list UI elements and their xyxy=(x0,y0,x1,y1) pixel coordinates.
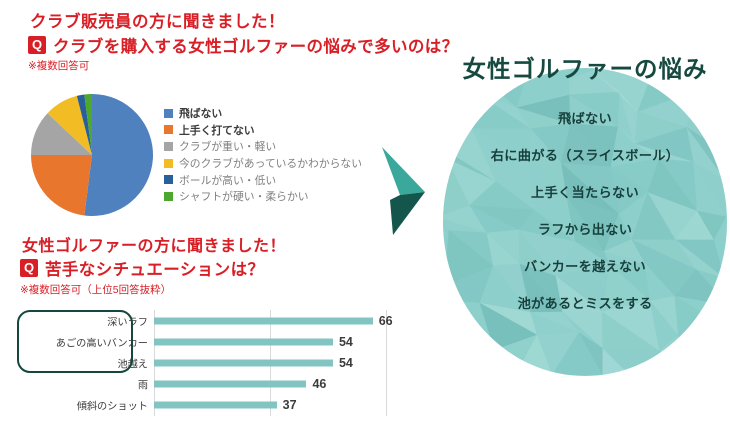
legend-swatch-icon xyxy=(164,125,173,134)
pie-chart-legend: 飛ばない上手く打てないクラブが重い・軽い今のクラブがあっているかわからないボール… xyxy=(164,105,344,205)
page-title: 女性ゴルファーの悩み xyxy=(443,50,727,84)
bar-fill xyxy=(154,339,333,346)
legend-item: ボールが高い・低い xyxy=(164,171,344,188)
bar-row: 雨46 xyxy=(18,373,418,395)
trouble-item: 右に曲がる（スライスボール） xyxy=(443,137,727,174)
legend-item: 上手く打てない xyxy=(164,122,344,139)
bar-category-label: 傾斜のショット xyxy=(18,398,148,413)
pie-slice xyxy=(84,94,153,216)
bar-fill xyxy=(154,402,277,409)
question2-headline: Q 苦手なシチュエーションは？ xyxy=(20,256,264,280)
bar-value-label: 46 xyxy=(312,377,326,391)
legend-item: シャフトが硬い・柔らかい xyxy=(164,188,344,205)
bar-chart-highlight-box xyxy=(17,310,133,373)
pie-chart xyxy=(30,93,154,217)
oval-facet xyxy=(678,335,727,376)
bar-fill xyxy=(154,318,373,325)
oval-facet xyxy=(678,335,727,376)
bar-fill xyxy=(154,360,333,367)
q-badge-icon: Q xyxy=(28,36,46,54)
bar-value-label: 54 xyxy=(339,356,353,370)
trouble-item: バンカーを越えない xyxy=(443,248,727,285)
question2-text: 苦手なシチュエーションは？ xyxy=(45,256,264,280)
bar-category-label: 雨 xyxy=(18,377,148,392)
oval-facet xyxy=(445,335,488,376)
legend-label: 今のクラブがあっているかわからない xyxy=(179,155,362,171)
question2-kicker: 女性ゴルファーの方に聞きました！ xyxy=(22,232,286,256)
arrow-upper-blade xyxy=(382,147,425,195)
legend-label: 上手く打てない xyxy=(179,122,255,138)
legend-label: シャフトが硬い・柔らかい xyxy=(179,188,309,204)
question1-note: ※複数回答可 xyxy=(28,58,89,73)
arrow-lower-blade xyxy=(390,192,425,235)
question2-note: ※複数回答可（上位5回答抜粋） xyxy=(20,282,171,297)
trouble-item: ラフから出ない xyxy=(443,211,727,248)
trouble-item: 飛ばない xyxy=(443,100,727,137)
pie-slice xyxy=(31,155,92,216)
question1-kicker: クラブ販売員の方に聞きました！ xyxy=(30,8,285,32)
legend-swatch-icon xyxy=(164,175,173,184)
infographic-canvas: クラブ販売員の方に聞きました！ Q クラブを購入する女性ゴルファーの悩みで多いの… xyxy=(0,0,730,431)
troubles-list: 飛ばない右に曲がる（スライスボール）上手く当たらないラフから出ないバンカーを越え… xyxy=(443,100,727,322)
oval-facet xyxy=(487,350,512,376)
legend-label: ボールが高い・低い xyxy=(179,172,276,188)
trouble-item: 池があるとミスをする xyxy=(443,285,727,322)
legend-item: 今のクラブがあっているかわからない xyxy=(164,155,344,172)
oval-facet xyxy=(456,335,494,376)
legend-swatch-icon xyxy=(164,142,173,151)
legend-item: クラブが重い・軽い xyxy=(164,138,344,155)
trouble-item: 上手く当たらない xyxy=(443,174,727,211)
bar-row: 傾斜のショット37 xyxy=(18,394,418,416)
pie-chart-svg xyxy=(30,93,154,217)
legend-item: 飛ばない xyxy=(164,105,344,122)
bar-value-label: 37 xyxy=(283,398,297,412)
legend-label: 飛ばない xyxy=(179,105,222,121)
question1-headline: Q クラブを購入する女性ゴルファーの悩みで多いのは？ xyxy=(28,33,459,57)
legend-swatch-icon xyxy=(164,109,173,118)
right-arrow-icon xyxy=(374,145,432,237)
bar-fill xyxy=(154,381,306,388)
bar-value-label: 54 xyxy=(339,335,353,349)
question1-text: クラブを購入する女性ゴルファーの悩みで多いのは？ xyxy=(53,33,459,57)
bar-value-label: 66 xyxy=(379,314,393,328)
legend-swatch-icon xyxy=(164,192,173,201)
legend-swatch-icon xyxy=(164,159,173,168)
legend-label: クラブが重い・軽い xyxy=(179,138,276,154)
q-badge-icon: Q xyxy=(20,259,38,277)
